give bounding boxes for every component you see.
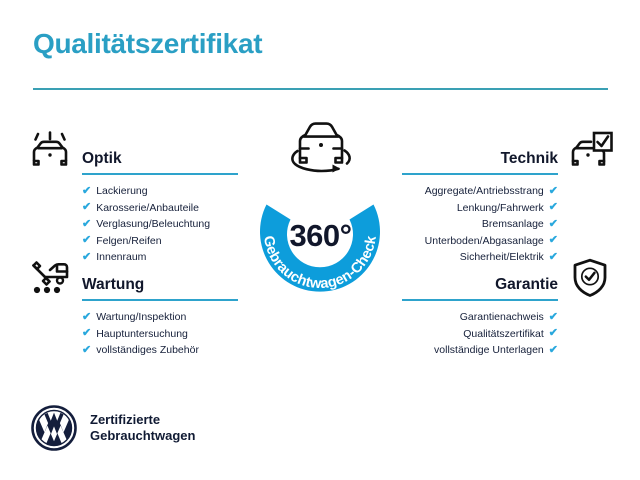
list-item-label: vollständiges Zubehör: [96, 342, 199, 359]
section-technik: Technik ✔Aggregate/Antriebsstrang ✔Lenku…: [388, 130, 618, 266]
list-item-label: Garantienachweis: [460, 309, 544, 326]
section-divider: [402, 173, 558, 175]
list-item: ✔Wartung/Inspektion: [22, 309, 252, 326]
section-optik: Optik ✔Lackierung ✔Karosserie/Anbauteile…: [22, 130, 252, 266]
check-icon: ✔: [549, 186, 558, 197]
checklist-garantie: ✔Garantienachweis ✔Qualitätszertifikat ✔…: [388, 309, 618, 359]
section-header: Wartung: [22, 256, 252, 300]
check-icon: ✔: [82, 235, 91, 246]
section-divider: [82, 173, 238, 175]
list-item-label: Unterboden/Abgasanlage: [425, 233, 544, 250]
shield-check-icon: [564, 256, 616, 300]
car-checkbox-icon: [564, 130, 616, 174]
section-garantie: Garantie ✔Garantienachweis ✔Qualitätszer…: [388, 256, 618, 359]
list-item: ✔vollständiges Zubehör: [22, 342, 252, 359]
list-item: ✔Felgen/Reifen: [22, 233, 252, 250]
list-item-label: Hauptuntersuchung: [96, 326, 188, 343]
page-title: Qualitätszertifikat: [33, 28, 262, 60]
volkswagen-logo: [30, 404, 78, 452]
footer-text: Zertifizierte Gebrauchtwagen: [90, 412, 195, 444]
check-icon: ✔: [82, 186, 91, 197]
list-item: ✔vollständige Unterlagen: [388, 342, 618, 359]
check-icon: ✔: [549, 202, 558, 213]
list-item-label: Karosserie/Anbauteile: [96, 200, 199, 217]
section-header: Garantie: [388, 256, 618, 300]
list-item-label: Qualitätszertifikat: [463, 326, 544, 343]
list-item: ✔Bremsanlage: [388, 216, 618, 233]
list-item: ✔Lackierung: [22, 183, 252, 200]
list-item-label: Bremsanlage: [482, 216, 544, 233]
section-divider: [82, 299, 238, 301]
section-header: Optik: [22, 130, 252, 174]
header-divider: [33, 88, 608, 90]
list-item: ✔Verglasung/Beleuchtung: [22, 216, 252, 233]
footer-line-1: Zertifizierte: [90, 412, 195, 428]
check-icon: ✔: [82, 219, 91, 230]
list-item: ✔Unterboden/Abgasanlage: [388, 233, 618, 250]
list-item: ✔Garantienachweis: [388, 309, 618, 326]
badge-degrees: 360°: [228, 218, 413, 254]
list-item: ✔Karosserie/Anbauteile: [22, 200, 252, 217]
list-item-label: Lenkung/Fahrwerk: [457, 200, 544, 217]
list-item-label: Verglasung/Beleuchtung: [96, 216, 210, 233]
list-item: ✔Qualitätszertifikat: [388, 326, 618, 343]
section-header: Technik: [388, 130, 618, 174]
car-rotate-icon: [278, 118, 364, 180]
list-item-label: Aggregate/Antriebsstrang: [425, 183, 544, 200]
check-icon: ✔: [549, 219, 558, 230]
section-wartung: Wartung ✔Wartung/Inspektion ✔Hauptunters…: [22, 256, 252, 359]
checklist-wartung: ✔Wartung/Inspektion ✔Hauptuntersuchung ✔…: [22, 309, 252, 359]
section-title: Wartung: [82, 276, 144, 294]
check-icon: ✔: [82, 312, 91, 323]
section-title: Garantie: [495, 276, 558, 294]
checklist-optik: ✔Lackierung ✔Karosserie/Anbauteile ✔Verg…: [22, 183, 252, 266]
footer-brand: Zertifizierte Gebrauchtwagen: [30, 404, 195, 452]
check-icon: ✔: [82, 328, 91, 339]
list-item: ✔Aggregate/Antriebsstrang: [388, 183, 618, 200]
badge-360-gebrauchtwagen-check: Gebrauchtwagen-Check 360°: [228, 118, 413, 310]
check-icon: ✔: [549, 312, 558, 323]
check-icon: ✔: [549, 235, 558, 246]
wrench-car-icon: [24, 256, 76, 300]
car-shine-icon: [24, 130, 76, 174]
list-item: ✔Lenkung/Fahrwerk: [388, 200, 618, 217]
section-title: Technik: [501, 150, 558, 168]
list-item-label: Felgen/Reifen: [96, 233, 161, 250]
list-item-label: Wartung/Inspektion: [96, 309, 186, 326]
checklist-technik: ✔Aggregate/Antriebsstrang ✔Lenkung/Fahrw…: [388, 183, 618, 266]
list-item: ✔Hauptuntersuchung: [22, 326, 252, 343]
list-item-label: vollständige Unterlagen: [434, 342, 544, 359]
section-title: Optik: [82, 150, 122, 168]
check-icon: ✔: [82, 345, 91, 356]
check-icon: ✔: [549, 328, 558, 339]
check-icon: ✔: [82, 202, 91, 213]
list-item-label: Lackierung: [96, 183, 147, 200]
section-divider: [402, 299, 558, 301]
check-icon: ✔: [549, 345, 558, 356]
footer-line-2: Gebrauchtwagen: [90, 428, 195, 444]
